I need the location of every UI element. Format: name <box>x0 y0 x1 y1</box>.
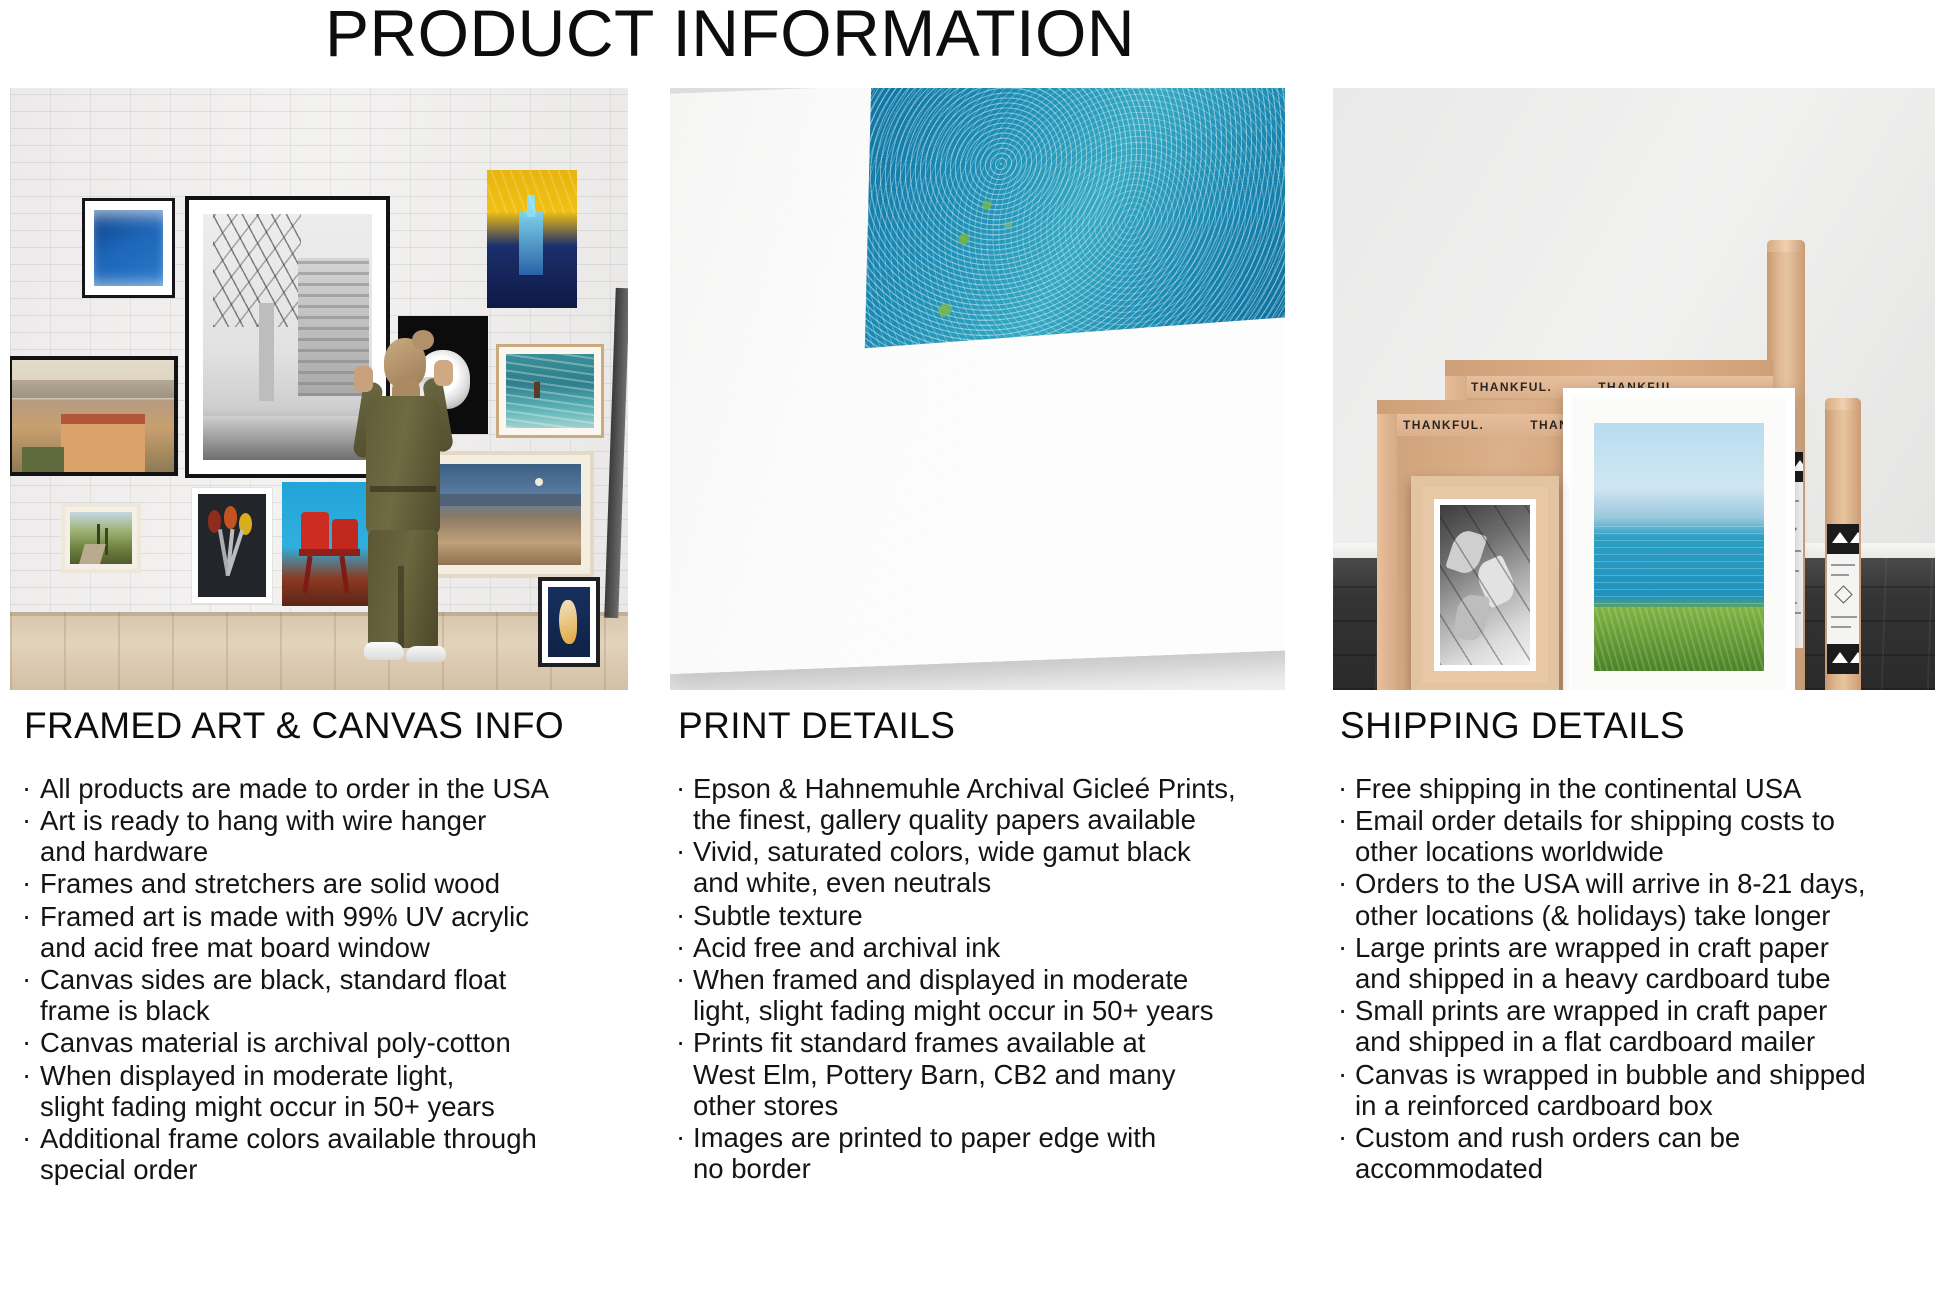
list-item: Art is ready to hang with wire hanger an… <box>18 805 638 867</box>
chevron-down-icon <box>1827 644 1859 674</box>
gallery-wall-photo <box>10 88 628 690</box>
framed-art-spoons <box>192 488 272 603</box>
list-item: Acid free and archival ink <box>672 932 1297 963</box>
list-item: Canvas material is archival poly-cotton <box>18 1027 638 1058</box>
framed-art-surfer <box>496 344 604 438</box>
list-item: Images are printed to paper edge with no… <box>672 1122 1297 1184</box>
column-heading: SHIPPING DETAILS <box>1340 706 1934 747</box>
column-heading: FRAMED ART & CANVAS INFO <box>24 706 638 747</box>
framed-art-blue-sky <box>82 198 175 298</box>
tape-text: THANKFUL. <box>1403 418 1484 432</box>
bullet-list: All products are made to order in the US… <box>18 773 638 1186</box>
bullet-list: Epson & Hahnemuhle Archival Gicleé Print… <box>672 773 1297 1185</box>
diamond-icon <box>1834 585 1852 603</box>
bullet-list: Free shipping in the continental USA Ema… <box>1334 773 1934 1185</box>
framed-art-coastal-village <box>10 356 178 476</box>
list-item: Free shipping in the continental USA <box>1334 773 1934 804</box>
list-item: Additional frame colors available throug… <box>18 1123 638 1185</box>
framed-art-tuscany-road <box>61 503 141 573</box>
tube-cap <box>1767 240 1805 252</box>
list-item: Canvas sides are black, standard float f… <box>18 964 638 1026</box>
print-detail-photo <box>670 88 1285 690</box>
person-hanging-art <box>340 316 460 690</box>
list-item: Subtle texture <box>672 900 1297 931</box>
column-heading: PRINT DETAILS <box>678 706 1297 747</box>
list-item: Epson & Hahnemuhle Archival Gicleé Print… <box>672 773 1297 835</box>
framed-print-maple-leaves <box>1411 476 1559 690</box>
column-framed-art-canvas-info: FRAMED ART & CANVAS INFO All products ar… <box>18 706 638 1186</box>
turquoise-water-print <box>865 88 1285 348</box>
page-title: PRODUCT INFORMATION <box>0 0 1460 72</box>
list-item: When displayed in moderate light, slight… <box>18 1060 638 1122</box>
list-item: Prints fit standard frames available at … <box>672 1027 1297 1121</box>
column-print-details: PRINT DETAILS Epson & Hahnemuhle Archiva… <box>672 706 1297 1185</box>
archival-paper-sheet <box>670 88 1285 675</box>
wood-floor <box>10 612 628 690</box>
tube-label <box>1827 524 1859 674</box>
shipping-tube-short <box>1825 398 1861 690</box>
list-item: When framed and displayed in moderate li… <box>672 964 1297 1026</box>
list-item: All products are made to order in the US… <box>18 773 638 804</box>
shipping-photo: OPEN THIS END THANKFUL. THANKFU <box>1333 88 1935 690</box>
framed-art-koi <box>538 577 600 667</box>
list-item: Vivid, saturated colors, wide gamut blac… <box>672 836 1297 898</box>
list-item: Framed art is made with 99% UV acrylic a… <box>18 901 638 963</box>
framed-print-ocean <box>1563 388 1795 690</box>
list-item: Small prints are wrapped in craft paper … <box>1334 995 1934 1057</box>
list-item: Frames and stretchers are solid wood <box>18 868 638 899</box>
list-item: Custom and rush orders can be accommodat… <box>1334 1122 1934 1184</box>
list-item: Canvas is wrapped in bubble and shipped … <box>1334 1059 1934 1121</box>
canvas-art-empire-state <box>487 170 577 308</box>
chevron-up-icon <box>1827 524 1859 554</box>
tube-cap <box>1825 398 1861 410</box>
column-shipping-details: SHIPPING DETAILS Free shipping in the co… <box>1334 706 1934 1185</box>
tape-text: THANKFUL. <box>1471 380 1552 394</box>
list-item: Email order details for shipping costs t… <box>1334 805 1934 867</box>
list-item: Orders to the USA will arrive in 8-21 da… <box>1334 868 1934 930</box>
list-item: Large prints are wrapped in craft paper … <box>1334 932 1934 994</box>
